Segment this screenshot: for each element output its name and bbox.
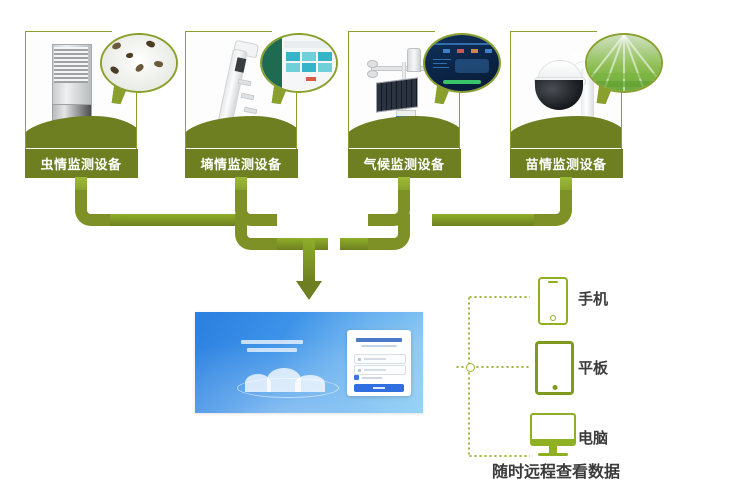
soil-data-table-bubble — [260, 33, 338, 93]
login-button[interactable] — [354, 384, 404, 392]
username-input[interactable] — [354, 354, 406, 364]
connector-elbow-soil-2 — [235, 214, 277, 250]
remote-view-caption: 随时远程查看数据 — [492, 458, 620, 482]
device-label-soil: 墒情监测设备 — [200, 154, 281, 173]
endpoint-tablet[interactable] — [535, 341, 574, 395]
device-label-bar-climate: 气候监测设备 — [348, 149, 461, 178]
endpoint-phone[interactable] — [538, 277, 568, 325]
endpoint-desktop[interactable] — [530, 413, 576, 459]
login-subtitle — [361, 345, 397, 347]
dotted-line-junction-node — [466, 363, 475, 372]
device-label-climate: 气候监测设备 — [363, 154, 444, 173]
tablet-icon — [535, 341, 574, 395]
dotted-line-to-phone — [468, 296, 530, 298]
remember-me-checkbox[interactable] — [354, 375, 359, 380]
connector-run-left — [110, 214, 240, 226]
connector-elbow-crop — [530, 190, 572, 226]
device-label-bar-soil: 墒情监测设备 — [185, 149, 298, 178]
monitor-icon — [530, 413, 576, 459]
merge-arrow-shaft — [303, 238, 315, 283]
cloud-platform-login-screenshot[interactable] — [195, 312, 423, 413]
device-label-insect: 虫情监测设备 — [40, 154, 121, 173]
device-label-crop: 苗情监测设备 — [525, 154, 606, 173]
platform-slogan-text — [241, 340, 303, 356]
insect-closeup-bubble — [100, 33, 178, 93]
diagram-canvas: 虫情监测设备 墒情监测设备 — [0, 0, 750, 500]
phone-icon — [538, 277, 568, 325]
endpoint-label-desktop: 电脑 — [578, 427, 608, 448]
dotted-line-to-desktop — [468, 455, 530, 457]
login-card[interactable] — [347, 330, 411, 396]
endpoint-label-phone: 手机 — [578, 288, 608, 309]
connector-run-center-left — [270, 238, 328, 250]
greenhouse-view-bubble — [585, 33, 663, 93]
dotted-line-vertical — [468, 296, 470, 456]
login-title — [356, 338, 402, 342]
password-input[interactable] — [354, 365, 406, 375]
climate-dashboard-bubble — [423, 33, 501, 93]
device-label-bar-crop: 苗情监测设备 — [510, 149, 623, 178]
connector-run-right — [432, 214, 534, 226]
remember-me-label — [362, 377, 382, 379]
device-label-bar-insect: 虫情监测设备 — [25, 149, 138, 178]
merge-arrow-head — [296, 281, 322, 300]
cloud-illustration — [237, 368, 337, 398]
endpoint-label-tablet: 平板 — [578, 357, 608, 378]
connector-elbow-climate-2 — [368, 214, 410, 250]
